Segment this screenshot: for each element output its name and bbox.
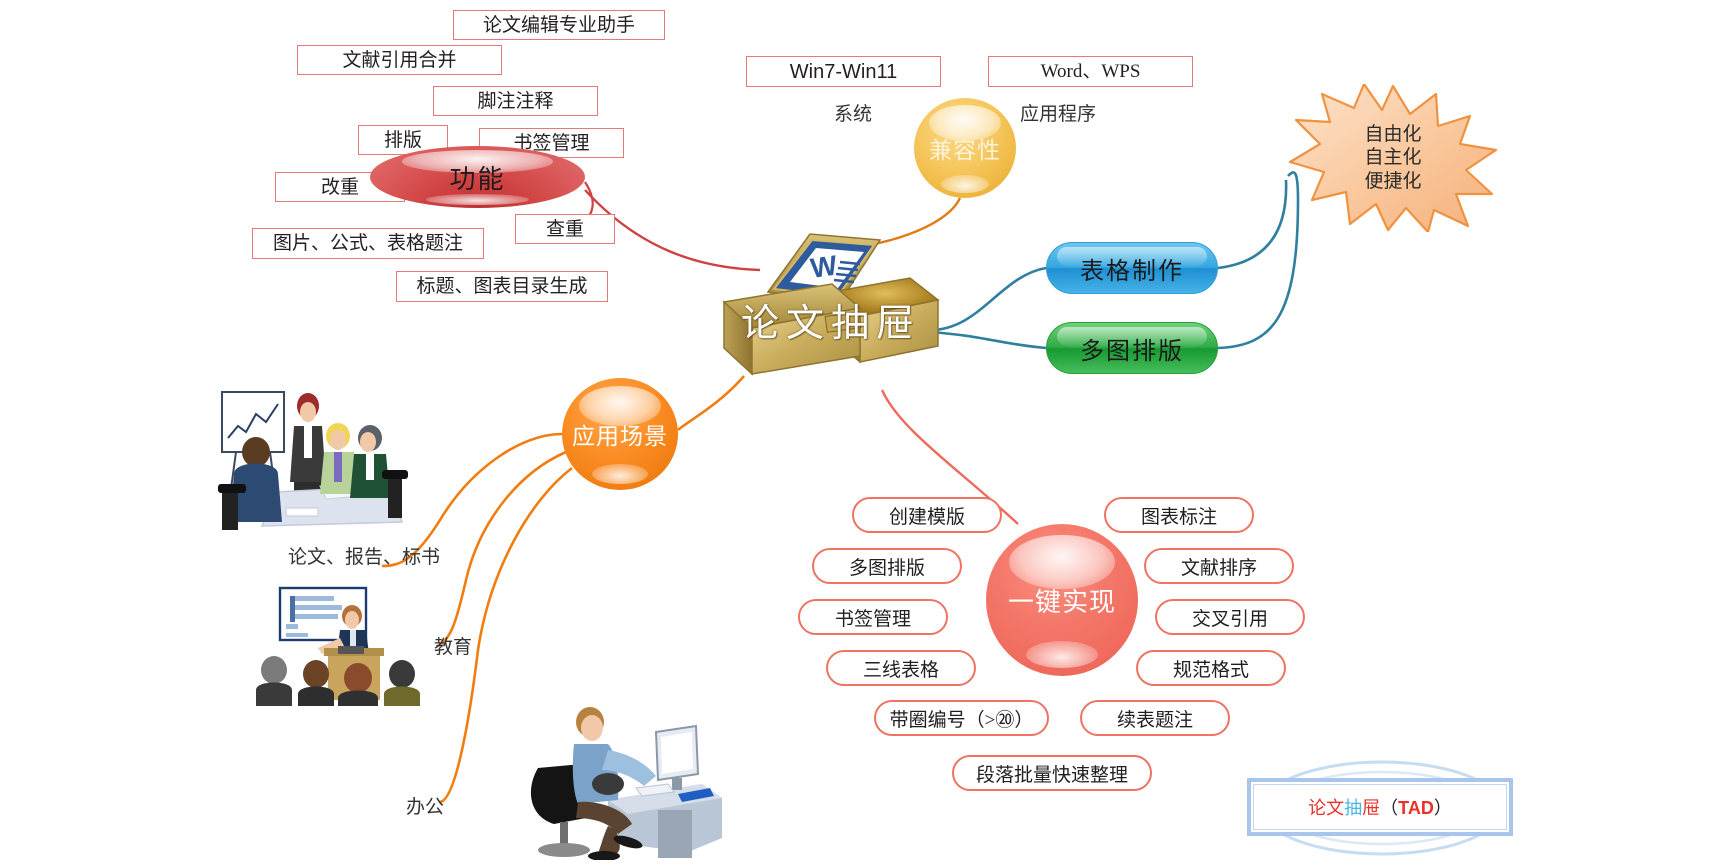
node-compatibility[interactable]: 兼容性 xyxy=(914,98,1016,198)
compat-box-system-label: Win7-Win11 xyxy=(790,62,897,82)
meeting-clipart xyxy=(212,386,412,536)
office-desk-clipart xyxy=(516,692,722,860)
starburst-text: 自由化 自主化 便捷化 xyxy=(1288,84,1498,232)
lecture-clipart xyxy=(252,586,442,706)
logo-abbr: TAD xyxy=(1398,798,1434,818)
feature-left-4-label: 带圈编号（>⑳） xyxy=(890,705,1034,732)
function-item-8[interactable]: 标题、图表目录生成 xyxy=(396,271,608,302)
feature-left-0-label: 创建模版 xyxy=(889,502,965,529)
starburst-line-1: 自主化 xyxy=(1364,146,1421,169)
feature-left-1-label: 多图排版 xyxy=(849,553,925,580)
pill-table-creation[interactable]: 表格制作 xyxy=(1046,242,1218,294)
gloss-reflection xyxy=(1026,641,1099,668)
feature-left-3[interactable]: 三线表格 xyxy=(826,650,976,686)
gloss-reflection xyxy=(592,464,648,484)
function-item-8-label: 标题、图表目录生成 xyxy=(416,277,587,296)
function-item-2-label: 脚注注释 xyxy=(477,92,553,111)
node-function-label: 功能 xyxy=(449,159,505,196)
logo-text: 论文抽屉（TAD） xyxy=(1308,794,1452,820)
feature-right-1-label: 文献排序 xyxy=(1181,553,1257,580)
feature-right-3[interactable]: 规范格式 xyxy=(1136,650,1286,686)
feature-left-4[interactable]: 带圈编号（>⑳） xyxy=(874,700,1049,736)
scenario-caption-0: 论文、报告、标书 xyxy=(288,542,440,569)
node-function[interactable]: 功能 xyxy=(370,146,585,208)
function-item-1-label: 文献引用合并 xyxy=(342,51,456,70)
function-item-7-label: 图片、公式、表格题注 xyxy=(273,234,463,253)
feature-left-0[interactable]: 创建模版 xyxy=(852,497,1002,533)
feature-right-2[interactable]: 交叉引用 xyxy=(1155,599,1305,635)
node-one-click[interactable]: 一键实现 xyxy=(986,524,1138,676)
svg-text:W: W xyxy=(809,249,840,283)
function-item-5-label: 改重 xyxy=(321,178,359,197)
compat-box-system[interactable]: Win7-Win11 xyxy=(746,56,941,87)
center-drawer-illustration: W xyxy=(714,196,946,381)
node-application-scenarios[interactable]: 应用场景 xyxy=(562,378,678,490)
scenario-caption-1: 教育 xyxy=(434,632,472,659)
feature-bottom-0-label: 段落批量快速整理 xyxy=(976,760,1128,787)
feature-left-2[interactable]: 书签管理 xyxy=(798,599,948,635)
mindmap-canvas: W 论文抽屉 论文编辑专业助手 文献引用合并 脚注注释 排 xyxy=(0,0,1720,860)
feature-left-2-label: 书签管理 xyxy=(835,604,911,631)
compat-caption-system: 系统 xyxy=(834,99,872,126)
feature-left-1[interactable]: 多图排版 xyxy=(812,548,962,584)
starburst-line-2: 便捷化 xyxy=(1364,170,1421,193)
function-item-6-label: 查重 xyxy=(546,220,584,239)
logo-paren-open: （ xyxy=(1380,798,1398,818)
feature-left-3-label: 三线表格 xyxy=(863,655,939,682)
function-item-3-label: 排版 xyxy=(384,131,422,150)
function-item-7[interactable]: 图片、公式、表格题注 xyxy=(252,228,484,259)
starburst-line-0: 自由化 xyxy=(1364,123,1421,146)
feature-right-2-label: 交叉引用 xyxy=(1192,604,1268,631)
compat-box-app-label: Word、WPS xyxy=(1041,62,1141,81)
feature-right-4[interactable]: 续表题注 xyxy=(1080,700,1230,736)
pill-multi-image-layout[interactable]: 多图排版 xyxy=(1046,322,1218,374)
gloss-reflection xyxy=(941,175,990,193)
feature-right-4-label: 续表题注 xyxy=(1117,705,1193,732)
node-compatibility-label: 兼容性 xyxy=(929,131,1001,165)
scenario-caption-2: 办公 xyxy=(406,792,444,819)
starburst-callout: 自由化 自主化 便捷化 xyxy=(1288,84,1498,232)
feature-right-0-label: 图表标注 xyxy=(1141,502,1217,529)
node-one-click-label: 一键实现 xyxy=(1008,582,1116,619)
pill-multi-image-layout-label: 多图排版 xyxy=(1080,331,1184,366)
feature-right-0[interactable]: 图表标注 xyxy=(1104,497,1254,533)
pill-table-creation-label: 表格制作 xyxy=(1080,251,1184,286)
compat-caption-app: 应用程序 xyxy=(1020,99,1096,126)
node-application-scenarios-label: 应用场景 xyxy=(572,417,668,451)
product-logo[interactable]: 论文抽屉（TAD） xyxy=(1247,778,1513,836)
function-item-0[interactable]: 论文编辑专业助手 xyxy=(453,10,665,40)
function-item-1[interactable]: 文献引用合并 xyxy=(297,45,502,75)
feature-right-3-label: 规范格式 xyxy=(1173,655,1249,682)
function-item-0-label: 论文编辑专业助手 xyxy=(483,16,635,35)
logo-part2: 抽 xyxy=(1344,798,1362,818)
logo-paren-close: ） xyxy=(1434,798,1452,818)
logo-part1: 论文 xyxy=(1308,798,1344,818)
compat-box-app[interactable]: Word、WPS xyxy=(988,56,1193,87)
function-item-2[interactable]: 脚注注释 xyxy=(433,86,598,116)
feature-right-1[interactable]: 文献排序 xyxy=(1144,548,1294,584)
feature-bottom-0[interactable]: 段落批量快速整理 xyxy=(952,755,1152,791)
function-item-6[interactable]: 查重 xyxy=(515,214,615,244)
logo-part3: 屉 xyxy=(1362,798,1380,818)
logo-inner-border: 论文抽屉（TAD） xyxy=(1253,784,1507,830)
